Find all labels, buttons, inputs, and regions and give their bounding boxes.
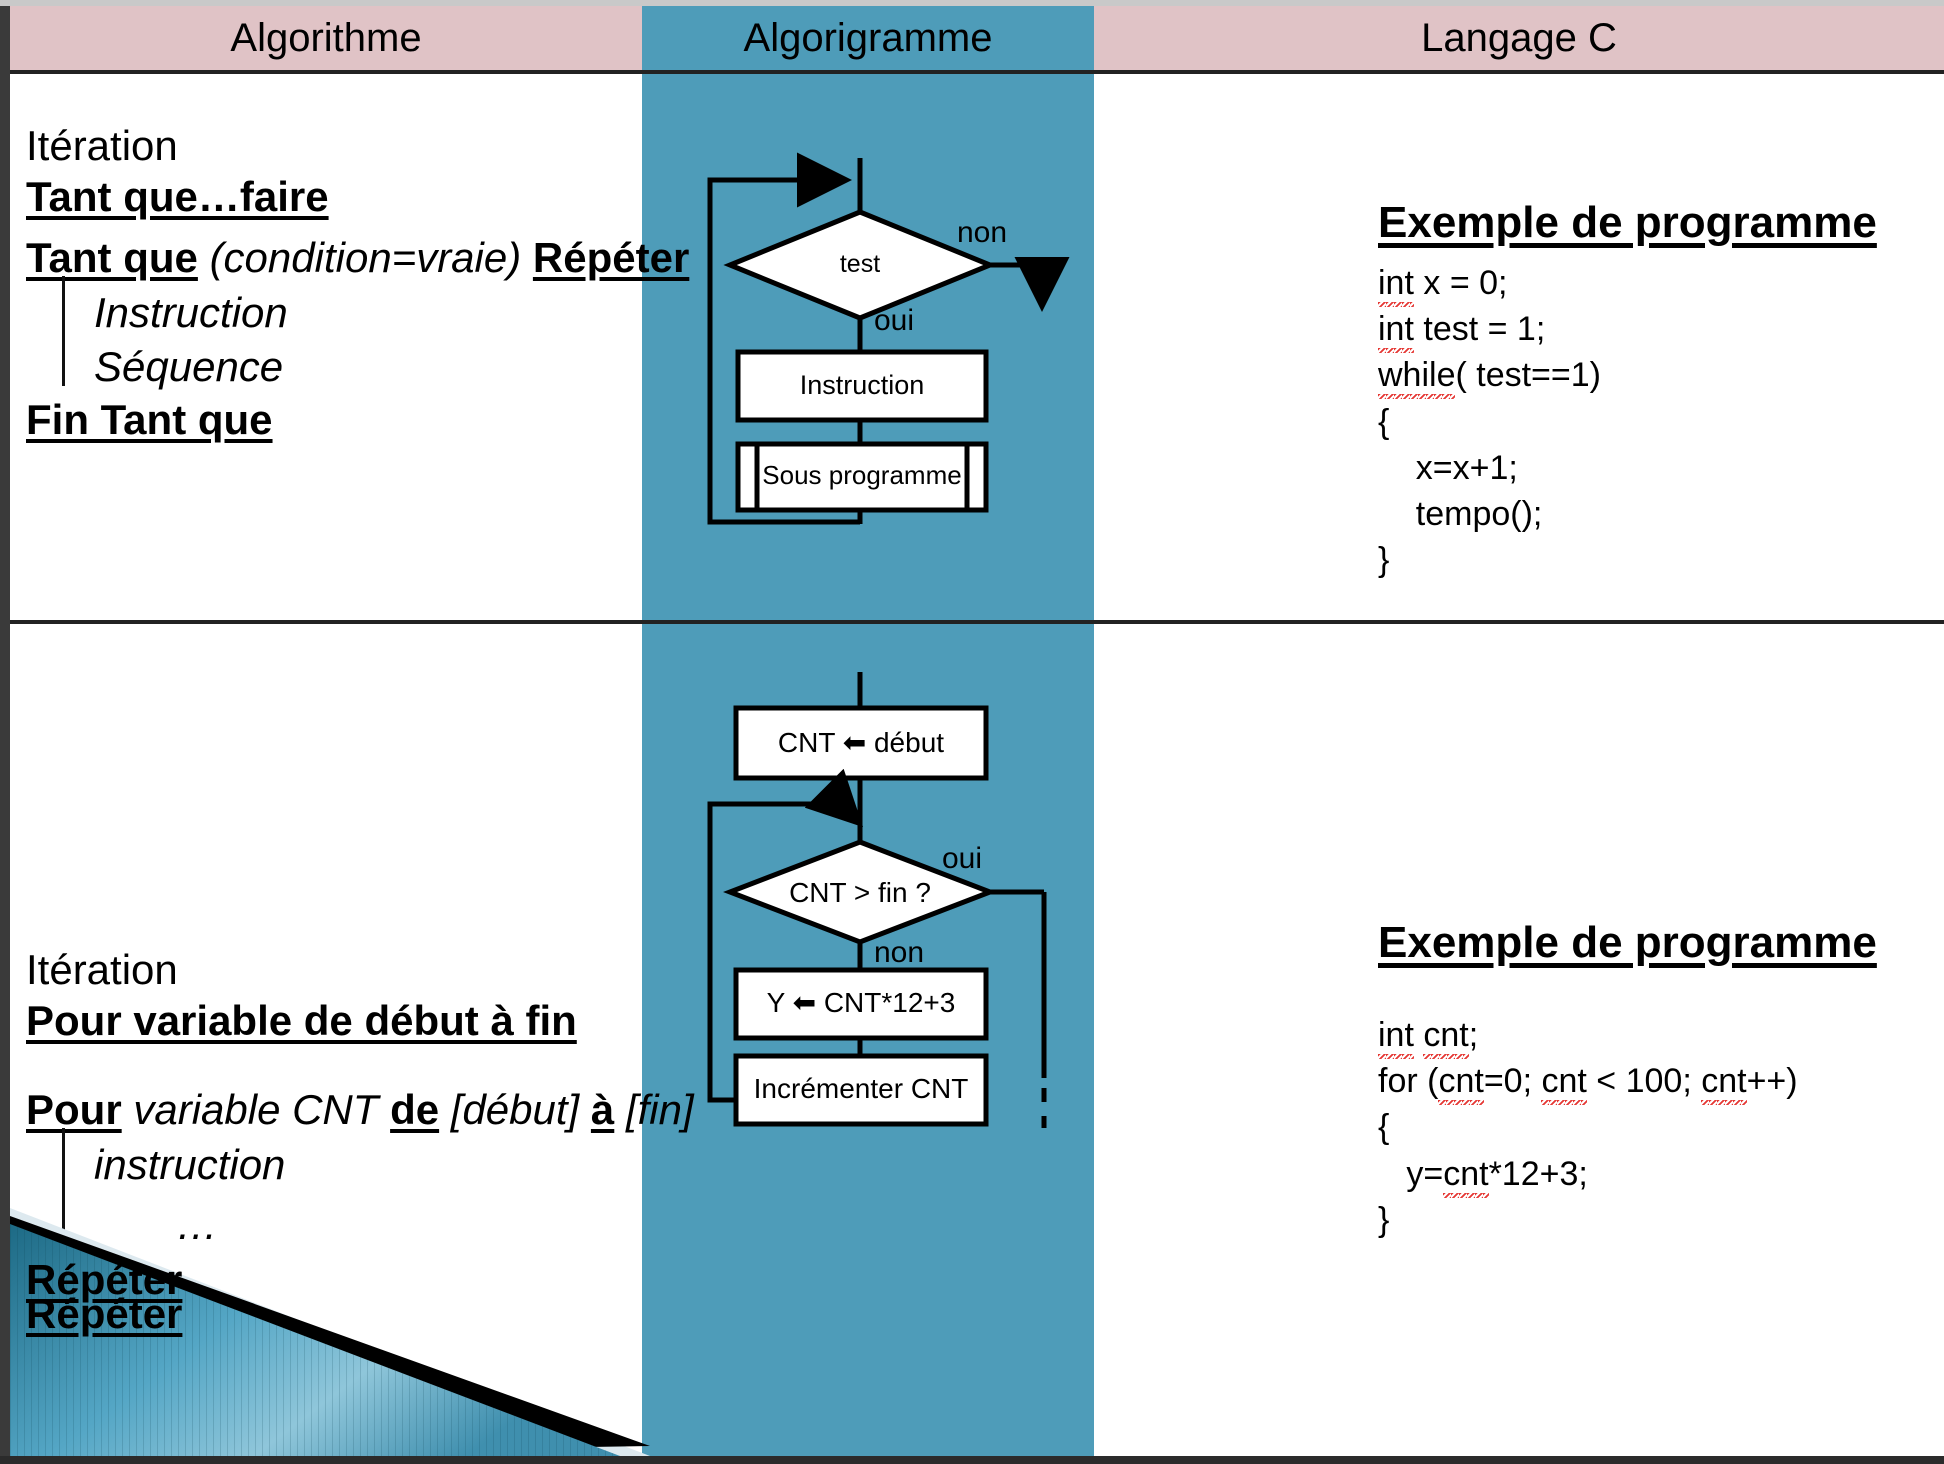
for-repeat-keyword: Répéter bbox=[26, 1292, 182, 1337]
for-box-init-label: CNT ⬅ début bbox=[778, 727, 944, 758]
header-cell-algorithme: Algorithme bbox=[10, 6, 642, 70]
slide-top-edge bbox=[0, 0, 1944, 6]
for-variable: variable CNT bbox=[133, 1086, 378, 1133]
for-code-line: for (cnt=0; cnt < 100; cnt++) bbox=[1378, 1058, 1938, 1104]
header-divider bbox=[10, 70, 1944, 74]
while-label-non: non bbox=[957, 216, 1007, 249]
while-code-line: int test = 1; bbox=[1378, 306, 1938, 352]
slide-bottom-edge bbox=[0, 1456, 1944, 1464]
header-label-algorigramme: Algorigramme bbox=[744, 18, 993, 58]
while-condition: (condition=vraie) bbox=[210, 234, 522, 281]
while-code-panel: Exemple de programme int x = 0; int test… bbox=[1378, 198, 1938, 584]
row-divider bbox=[10, 620, 1944, 624]
for-flowchart: CNT ⬅ début CNT > fin ? oui non Y ⬅ CNT*… bbox=[642, 670, 1094, 1130]
while-code-line: x=x+1; bbox=[1378, 445, 1938, 491]
while-pseudo-line-3: Séquence bbox=[26, 345, 726, 390]
while-flowchart: test non oui Instruction Sous programme bbox=[642, 150, 1094, 550]
while-decision-label: test bbox=[840, 250, 880, 278]
for-pseudo-line-2: instruction bbox=[26, 1143, 746, 1188]
for-label-oui: oui bbox=[942, 842, 982, 875]
while-code-line: { bbox=[1378, 399, 1938, 445]
table-header-row: Algorithme Algorigramme Langage C bbox=[10, 6, 1944, 70]
while-code-line: int x = 0; bbox=[1378, 260, 1938, 306]
while-pseudocode: Tant que (condition=vraie) Répéter Instr… bbox=[26, 236, 726, 442]
while-code-title: Exemple de programme bbox=[1378, 198, 1938, 248]
for-code-title: Exemple de programme bbox=[1378, 918, 1938, 968]
while-indent-guide bbox=[62, 276, 65, 386]
while-box-subprogram-label: Sous programme bbox=[762, 460, 961, 490]
for-pseudocode: Pour variable CNT de [début] à [fin] ins… bbox=[26, 1088, 746, 1302]
for-box-increment-label: Incrémenter CNT bbox=[754, 1073, 969, 1104]
for-kw-pour: Pour bbox=[26, 1086, 122, 1133]
slide-canvas: Algorithme Algorigramme Langage C Itérat… bbox=[0, 0, 1944, 1464]
for-code-panel: Exemple de programme int cnt; for (cnt=0… bbox=[1378, 918, 1938, 1243]
while-pseudo-line-4: Fin Tant que bbox=[26, 398, 726, 443]
for-kw-de: de bbox=[390, 1086, 439, 1133]
for-code-line: int cnt; bbox=[1378, 1012, 1938, 1058]
for-code-line: } bbox=[1378, 1197, 1938, 1243]
header-label-algorithme: Algorithme bbox=[230, 18, 421, 58]
while-title: Tant que…faire bbox=[26, 175, 706, 220]
for-title: Pour variable de début à fin bbox=[26, 999, 726, 1044]
for-decision-label: CNT > fin ? bbox=[789, 877, 931, 908]
while-label-oui: oui bbox=[874, 304, 914, 337]
while-pseudo-line-1: Tant que (condition=vraie) Répéter bbox=[26, 236, 726, 281]
header-cell-langage-c: Langage C bbox=[1094, 6, 1944, 70]
while-code-line: while( test==1) bbox=[1378, 352, 1938, 398]
while-code-line: tempo(); bbox=[1378, 491, 1938, 537]
for-algorithm-text: Itération Pour variable de début à fin bbox=[26, 948, 726, 1043]
for-code-line: { bbox=[1378, 1104, 1938, 1150]
for-label-non: non bbox=[874, 936, 924, 969]
for-kw-a: à bbox=[591, 1086, 614, 1133]
while-kw-tant-que: Tant que bbox=[26, 234, 198, 281]
for-box-compute-label: Y ⬅ CNT*12+3 bbox=[767, 987, 956, 1018]
for-pseudo-line-1: Pour variable CNT de [début] à [fin] bbox=[26, 1088, 746, 1133]
for-start-value: [début] bbox=[451, 1086, 579, 1133]
for-kicker: Itération bbox=[26, 948, 726, 993]
while-pseudo-line-2: Instruction bbox=[26, 291, 726, 336]
for-code-line: y=cnt*12+3; bbox=[1378, 1151, 1938, 1197]
while-kicker: Itération bbox=[26, 124, 706, 169]
header-label-langage-c: Langage C bbox=[1421, 18, 1617, 58]
while-box-instruction-label: Instruction bbox=[800, 370, 925, 400]
while-code-line: } bbox=[1378, 537, 1938, 583]
slide-left-edge bbox=[0, 0, 10, 1464]
header-cell-algorigramme: Algorigramme bbox=[642, 6, 1094, 70]
while-algorithm-text: Itération Tant que…faire bbox=[26, 124, 706, 219]
